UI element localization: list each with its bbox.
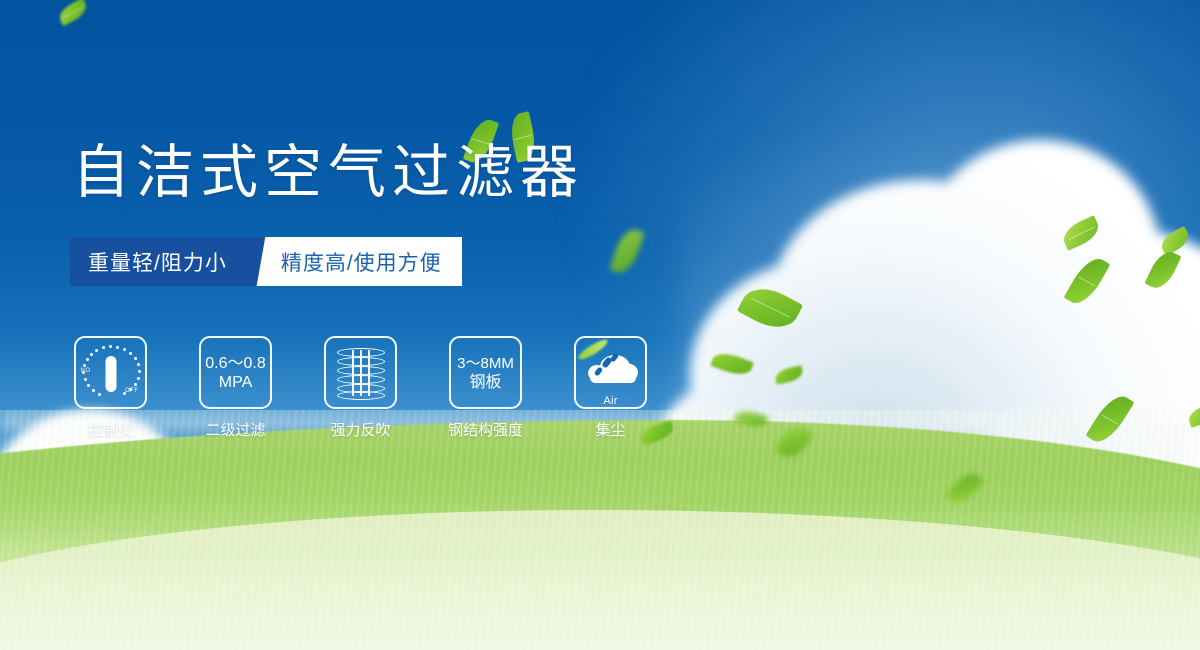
steel-plate-text: 钢板 xyxy=(457,373,514,392)
gauge-on-label: NO xyxy=(81,368,91,374)
feature-icon-box: 3～8MM 钢板 xyxy=(449,336,522,409)
gauge-needle xyxy=(105,356,116,392)
feature-item-dust-collection[interactable]: Air 集尘 xyxy=(574,336,647,440)
gauge-icon: NO OFF xyxy=(82,344,140,402)
pressure-icon: 0.6～0.8 MPA xyxy=(205,354,266,392)
gauge-off-label: OFF xyxy=(125,388,139,394)
feature-icon-box xyxy=(324,336,397,409)
feature-label: 强力反吹 xyxy=(330,419,390,440)
air-cloud-icon: Air xyxy=(584,351,638,395)
feature-item-steel-strength[interactable]: 3～8MM 钢板 钢结构强度 xyxy=(449,336,522,440)
pressure-unit-text: MPA xyxy=(205,373,266,392)
air-label: Air xyxy=(584,395,638,407)
grass-light-glow xyxy=(0,500,1200,650)
badge-precision-ease: 精度高/使用方便 xyxy=(275,237,462,286)
pressure-range-text: 0.6～0.8 xyxy=(205,354,266,373)
feature-icon-box: 0.6～0.8 MPA xyxy=(199,336,272,409)
grass-field xyxy=(0,410,1200,650)
steel-thickness-text: 3～8MM xyxy=(457,354,514,373)
feature-item-controller[interactable]: NO OFF 控制仪 xyxy=(74,336,147,440)
badge-divider xyxy=(249,237,275,286)
badge-weight-resistance: 重量轻/阻力小 xyxy=(70,237,249,286)
feature-item-two-stage-filter[interactable]: 0.6～0.8 MPA 二级过滤 xyxy=(199,336,272,440)
steel-plate-icon: 3～8MM 钢板 xyxy=(457,354,514,392)
page-title: 自洁式空气过滤器 xyxy=(72,144,584,202)
feature-item-back-blow[interactable]: 强力反吹 xyxy=(324,336,397,440)
feature-label: 二级过滤 xyxy=(205,419,265,440)
feature-list: NO OFF 控制仪 0.6～0.8 MPA 二级过滤 xyxy=(74,336,647,440)
feature-label: 控制仪 xyxy=(88,419,133,440)
tagline-badges: 重量轻/阻力小 精度高/使用方便 xyxy=(70,237,462,286)
feature-label: 钢结构强度 xyxy=(448,419,523,440)
feature-label: 集尘 xyxy=(595,419,625,440)
feature-icon-box: NO OFF xyxy=(74,336,147,409)
feature-icon-box: Air xyxy=(574,336,647,409)
coil-icon xyxy=(337,348,385,398)
hero-banner: 自洁式空气过滤器 重量轻/阻力小 精度高/使用方便 xyxy=(0,0,1200,650)
